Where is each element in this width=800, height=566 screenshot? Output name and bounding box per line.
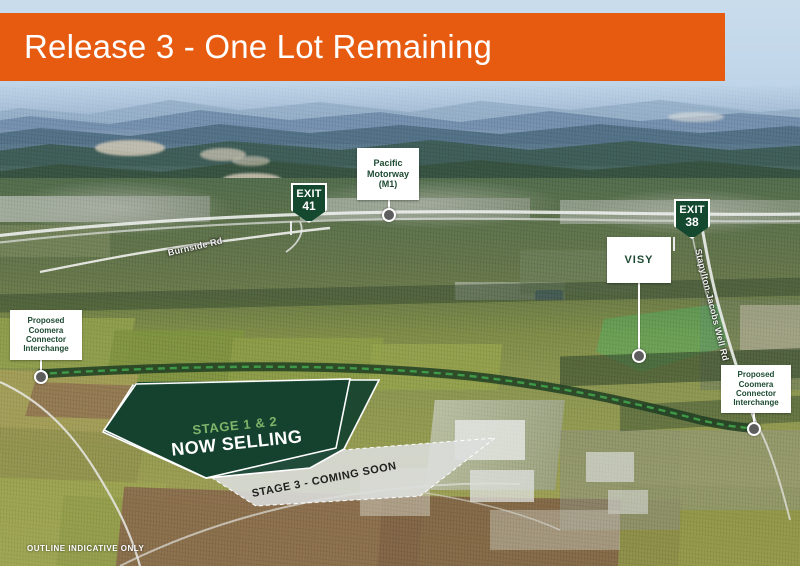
sign-post bbox=[673, 237, 675, 251]
callout-line: (M1) bbox=[379, 179, 398, 190]
callout-marker-dot bbox=[34, 370, 48, 384]
callout-line: Coomera bbox=[739, 380, 774, 389]
page-title: Release 3 - One Lot Remaining bbox=[24, 28, 492, 66]
callout-line: VISY bbox=[624, 254, 653, 267]
callout-line: Motorway bbox=[367, 169, 409, 180]
callout-line: Pacific bbox=[373, 158, 402, 169]
stage-polygons-layer bbox=[0, 0, 800, 566]
callout-leader-line bbox=[638, 282, 640, 354]
callout-coomera-connector-east[interactable]: Proposed Coomera Connector Interchange bbox=[721, 365, 791, 413]
release-3-map-graphic: STAGE 1 & 2 NOW SELLING STAGE 3 - COMING… bbox=[0, 0, 800, 566]
callout-visy[interactable]: VISY bbox=[607, 237, 671, 283]
callout-line: Interchange bbox=[23, 344, 68, 353]
callout-marker-dot bbox=[382, 208, 396, 222]
callout-line: Connector bbox=[26, 335, 66, 344]
callout-line: Interchange bbox=[733, 398, 778, 407]
sign-post bbox=[290, 221, 292, 235]
callout-line: Connector bbox=[736, 389, 776, 398]
callout-marker-dot bbox=[632, 349, 646, 363]
headline-banner: Release 3 - One Lot Remaining bbox=[0, 13, 725, 81]
callout-line: Proposed bbox=[738, 370, 775, 379]
callout-line: Coomera bbox=[29, 326, 64, 335]
exit-number: 38 bbox=[685, 216, 698, 229]
outline-disclaimer: OUTLINE INDICATIVE ONLY bbox=[27, 544, 144, 553]
callout-pacific-motorway[interactable]: Pacific Motorway (M1) bbox=[357, 148, 419, 200]
callout-coomera-connector-west[interactable]: Proposed Coomera Connector Interchange bbox=[10, 310, 82, 360]
callout-line: Proposed bbox=[28, 316, 65, 325]
exit-number: 41 bbox=[302, 200, 315, 213]
callout-marker-dot bbox=[747, 422, 761, 436]
